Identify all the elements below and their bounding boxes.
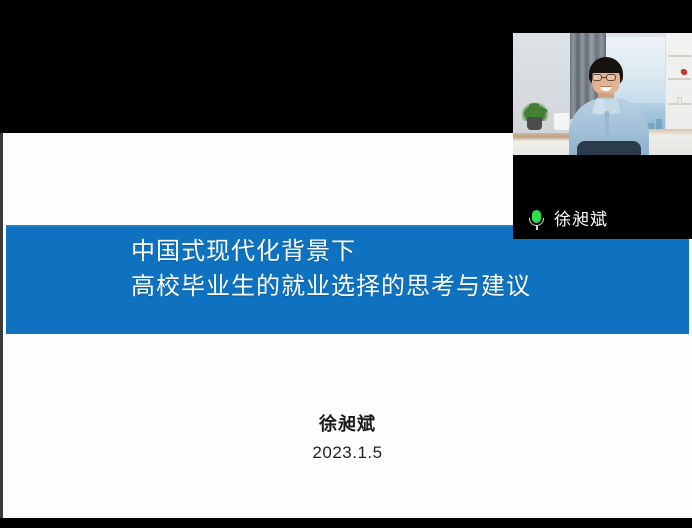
camera-feed (513, 33, 692, 155)
eyeglasses-left-lens (592, 74, 602, 81)
wall-shelf-unit (665, 33, 692, 137)
screen-share-viewport: 中国式现代化背景下 高校毕业生的就业选择的思考与建议 徐昶斌 2023.1.5 (0, 0, 692, 528)
shelf-object (677, 97, 682, 105)
bottom-letterbox (0, 518, 692, 528)
participant-name-row: 徐昶斌 (529, 206, 608, 234)
microphone-icon[interactable] (529, 210, 544, 230)
participant-name-label: 徐昶斌 (554, 210, 608, 230)
participant-video-tile[interactable]: 徐昶斌 (513, 23, 692, 239)
person-arms (577, 141, 641, 155)
slide-title-band: 中国式现代化背景下 高校毕业生的就业选择的思考与建议 (6, 225, 689, 334)
slide-presenter-block: 徐昶斌 2023.1.5 (3, 413, 692, 464)
presenter-name: 徐昶斌 (3, 413, 692, 437)
slide-title: 中国式现代化背景下 高校毕业生的就业选择的思考与建议 (131, 234, 531, 304)
plant-pot (527, 117, 542, 130)
desk-object-a (554, 113, 569, 130)
eyeglasses-right-lens (606, 74, 616, 81)
shelf-decoration (680, 68, 687, 75)
eyeglasses-bridge (602, 77, 606, 78)
person-hair-front (590, 62, 622, 73)
presentation-date: 2023.1.5 (3, 442, 692, 464)
participant-person (569, 57, 649, 155)
